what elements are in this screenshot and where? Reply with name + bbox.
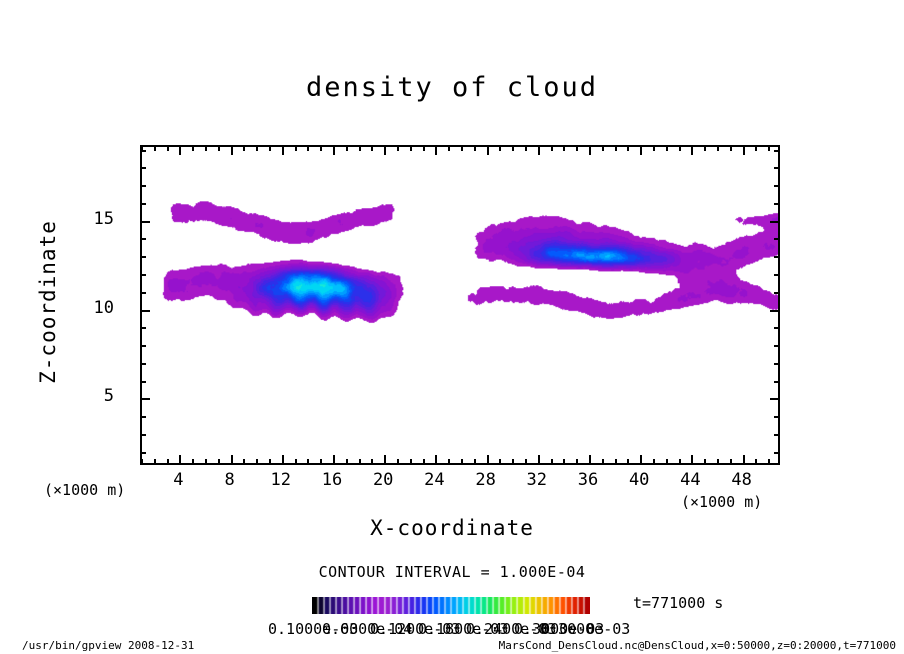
x-tick-minor <box>730 459 732 464</box>
x-tick-minor-top <box>615 146 617 151</box>
x-tick-major <box>179 455 181 464</box>
x-tick-minor <box>141 459 143 464</box>
x-tick-minor <box>307 459 309 464</box>
x-tick-major-top <box>743 146 745 155</box>
x-tick-minor <box>615 459 617 464</box>
x-tick-minor-top <box>730 146 732 151</box>
x-tick-minor-top <box>359 146 361 151</box>
x-tick-minor <box>704 459 706 464</box>
y-tick-major-right <box>770 398 779 400</box>
x-tick-minor <box>448 459 450 464</box>
x-tick-minor-top <box>192 146 194 151</box>
colorbar-tick-label: 0.3000e-03 <box>540 620 630 638</box>
x-tick-minor <box>371 459 373 464</box>
y-tick-minor-right <box>774 452 779 454</box>
x-tick-major <box>589 455 591 464</box>
colorbar-tick-labels: 0.1000e-030.6000e-040.1200e-030.1800e-03… <box>0 620 904 638</box>
x-tick-minor-top <box>448 146 450 151</box>
y-tick-major <box>141 398 150 400</box>
x-tick-minor <box>295 459 297 464</box>
x-tick-minor <box>243 459 245 464</box>
x-tick-minor-top <box>563 146 565 151</box>
y-tick-minor-right <box>774 434 779 436</box>
y-tick-minor <box>141 185 146 187</box>
y-tick-minor-right <box>774 381 779 383</box>
x-tick-minor-top <box>653 146 655 151</box>
x-tick-minor-top <box>717 146 719 151</box>
x-tick-minor-top <box>423 146 425 151</box>
x-tick-minor <box>666 459 668 464</box>
x-tick-minor <box>359 459 361 464</box>
y-tick-minor-right <box>774 150 779 152</box>
y-tick-minor-right <box>774 345 779 347</box>
footer-command: /usr/bin/gpview 2008-12-31 <box>22 639 194 652</box>
x-tick-minor-top <box>256 146 258 151</box>
colorbar <box>312 597 590 614</box>
x-tick-minor <box>551 459 553 464</box>
x-tick-minor <box>474 459 476 464</box>
x-tick-major-top <box>282 146 284 155</box>
x-tick-major <box>640 455 642 464</box>
x-tick-minor <box>320 459 322 464</box>
y-tick-minor <box>141 345 146 347</box>
x-tick-minor-top <box>525 146 527 151</box>
y-tick-minor-right <box>774 167 779 169</box>
x-tick-minor-top <box>666 146 668 151</box>
x-tick-minor <box>154 459 156 464</box>
x-tick-major <box>282 455 284 464</box>
x-tick-minor-top <box>551 146 553 151</box>
x-tick-minor <box>423 459 425 464</box>
x-tick-minor <box>679 459 681 464</box>
y-tick-minor <box>141 292 146 294</box>
y-tick-minor <box>141 150 146 152</box>
y-tick-minor-right <box>774 185 779 187</box>
x-tick-major-top <box>538 146 540 155</box>
x-tick-minor-top <box>512 146 514 151</box>
contour-interval-caption: CONTOUR INTERVAL = 1.000E-04 <box>0 563 904 581</box>
x-tick-major <box>538 455 540 464</box>
x-tick-minor <box>269 459 271 464</box>
x-tick-minor-top <box>627 146 629 151</box>
y-tick-minor-right <box>774 363 779 365</box>
x-tick-minor <box>397 459 399 464</box>
x-tick-minor-top <box>269 146 271 151</box>
x-tick-major <box>333 455 335 464</box>
x-tick-minor-top <box>499 146 501 151</box>
y-tick-minor-right <box>774 416 779 418</box>
footer-dataset-info: MarsCond_DensCloud.nc@DensCloud,x=0:5000… <box>499 639 896 652</box>
y-tick-minor <box>141 238 146 240</box>
x-tick-minor <box>576 459 578 464</box>
x-axis-unit-right: (×1000 m) <box>681 493 762 511</box>
x-tick-minor-top <box>768 146 770 151</box>
x-tick-minor <box>717 459 719 464</box>
x-tick-minor-top <box>295 146 297 151</box>
x-axis-title: X-coordinate <box>0 516 904 540</box>
x-tick-minor-top <box>397 146 399 151</box>
x-tick-major <box>384 455 386 464</box>
y-tick-minor <box>141 363 146 365</box>
x-tick-major-top <box>231 146 233 155</box>
x-tick-minor-top <box>755 146 757 151</box>
y-tick-minor <box>141 381 146 383</box>
x-tick-minor-top <box>474 146 476 151</box>
x-tick-minor-top <box>243 146 245 151</box>
x-tick-minor <box>627 459 629 464</box>
y-tick-minor-right <box>774 203 779 205</box>
x-tick-minor-top <box>576 146 578 151</box>
x-tick-minor <box>499 459 501 464</box>
x-tick-major <box>487 455 489 464</box>
page-title: density of cloud <box>0 72 904 103</box>
x-tick-minor-top <box>704 146 706 151</box>
x-tick-minor-top <box>307 146 309 151</box>
x-tick-minor-top <box>320 146 322 151</box>
y-axis-tick-label: 10 <box>54 298 114 318</box>
x-tick-minor <box>512 459 514 464</box>
x-tick-minor <box>653 459 655 464</box>
x-tick-minor <box>167 459 169 464</box>
y-tick-minor <box>141 452 146 454</box>
y-tick-minor <box>141 434 146 436</box>
x-tick-major-top <box>384 146 386 155</box>
x-axis-unit-left: (×1000 m) <box>44 481 125 499</box>
x-tick-minor <box>755 459 757 464</box>
x-tick-minor-top <box>346 146 348 151</box>
x-tick-major <box>231 455 233 464</box>
x-tick-minor-top <box>371 146 373 151</box>
x-tick-minor-top <box>218 146 220 151</box>
x-tick-minor-top <box>167 146 169 151</box>
x-tick-major-top <box>640 146 642 155</box>
x-tick-major-top <box>333 146 335 155</box>
x-tick-minor-top <box>410 146 412 151</box>
y-tick-minor <box>141 203 146 205</box>
y-axis-tick-label: 15 <box>54 209 114 229</box>
x-tick-minor-top <box>602 146 604 151</box>
x-tick-minor-top <box>461 146 463 151</box>
y-tick-major <box>141 221 150 223</box>
x-tick-minor <box>256 459 258 464</box>
x-tick-minor <box>205 459 207 464</box>
y-tick-minor-right <box>774 256 779 258</box>
density-heatmap-canvas <box>142 147 778 463</box>
y-tick-minor <box>141 274 146 276</box>
x-tick-minor <box>768 459 770 464</box>
y-tick-minor <box>141 327 146 329</box>
x-tick-minor <box>218 459 220 464</box>
plot-frame <box>140 145 780 465</box>
x-tick-major-top <box>691 146 693 155</box>
y-tick-minor <box>141 416 146 418</box>
y-tick-minor-right <box>774 238 779 240</box>
y-tick-major-right <box>770 310 779 312</box>
x-tick-minor-top <box>205 146 207 151</box>
x-tick-minor <box>525 459 527 464</box>
y-tick-minor-right <box>774 327 779 329</box>
x-tick-major <box>435 455 437 464</box>
y-tick-minor <box>141 256 146 258</box>
x-tick-major-top <box>435 146 437 155</box>
x-tick-minor <box>461 459 463 464</box>
x-tick-major <box>691 455 693 464</box>
x-tick-minor-top <box>154 146 156 151</box>
x-tick-minor <box>410 459 412 464</box>
x-tick-minor-top <box>679 146 681 151</box>
x-tick-minor <box>602 459 604 464</box>
x-axis-tick-label: 48 <box>712 470 772 490</box>
time-label: t=771000 s <box>633 594 723 612</box>
x-tick-major-top <box>589 146 591 155</box>
y-tick-minor-right <box>774 292 779 294</box>
y-axis-title: Z-coordinate <box>36 192 60 412</box>
y-tick-minor-right <box>774 274 779 276</box>
y-axis-tick-label: 5 <box>54 386 114 406</box>
y-tick-minor <box>141 167 146 169</box>
x-tick-major-top <box>179 146 181 155</box>
x-tick-minor <box>192 459 194 464</box>
y-tick-major <box>141 310 150 312</box>
x-tick-minor <box>563 459 565 464</box>
y-tick-major-right <box>770 221 779 223</box>
x-tick-major-top <box>487 146 489 155</box>
x-tick-minor <box>346 459 348 464</box>
x-tick-major <box>743 455 745 464</box>
